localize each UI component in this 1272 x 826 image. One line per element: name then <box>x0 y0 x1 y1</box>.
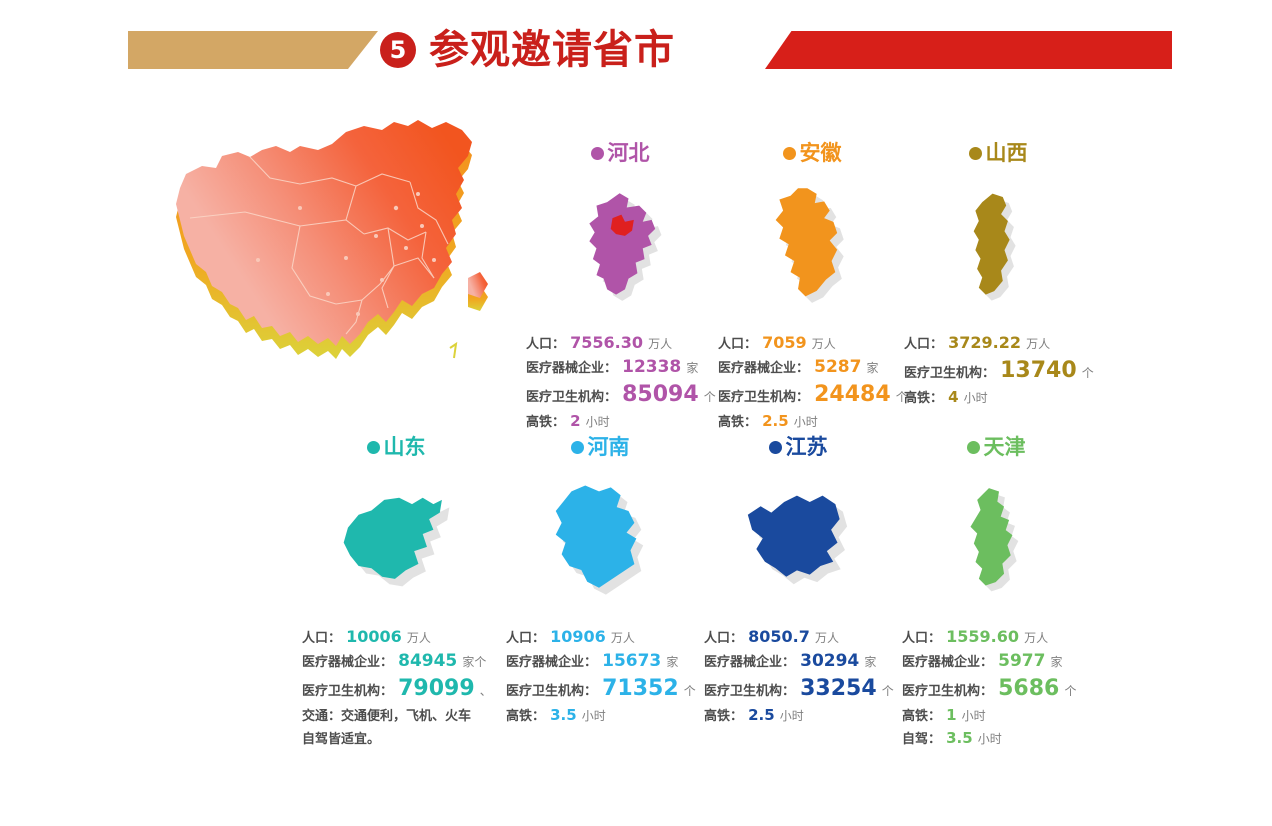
stat-unit: 、 <box>480 684 492 698</box>
stat-label: 高铁： <box>718 415 757 430</box>
stat-line: 自驾： 3.5 小时 <box>902 727 1096 750</box>
stat-line: 高铁： 3.5 小时 <box>506 704 700 727</box>
province-name-label: 天津 <box>984 437 1026 458</box>
province-shape-shandong <box>296 466 496 616</box>
stat-value: 7556.30 <box>570 333 643 352</box>
stat-label: 医疗卫生机构： <box>904 366 995 381</box>
stat-value: 79099 <box>398 676 475 701</box>
section-title-group: 5 参观邀请省市 <box>380 26 675 74</box>
province-header-tianjin: 天津 <box>896 434 1096 460</box>
stat-value: 85094 <box>622 382 699 407</box>
stat-line: 医疗器械企业： 5287 家 <box>718 355 912 379</box>
section-number-badge: 5 <box>380 32 416 68</box>
stat-value: 33254 <box>800 676 877 701</box>
stat-label: 高铁： <box>526 415 565 430</box>
header-banner: 5 参观邀请省市 <box>0 0 1272 90</box>
province-header-shandong: 山东 <box>296 434 496 460</box>
province-header-henan: 河南 <box>500 434 700 460</box>
stat-line: 医疗器械企业： 15673 家 <box>506 649 700 673</box>
province-stats-hebei: 人口： 7556.30 万人医疗器械企业： 12338 家医疗卫生机构： 850… <box>520 332 720 433</box>
stat-value: 13740 <box>1000 358 1077 383</box>
stat-label: 医疗器械企业： <box>526 361 617 376</box>
stat-label: 人口： <box>718 337 757 352</box>
red-banner-shape <box>765 31 1172 69</box>
stat-unit: 万人 <box>812 337 836 351</box>
stat-unit: 家 <box>867 361 879 375</box>
stat-unit: 个 <box>882 684 894 698</box>
legend-dot-icon <box>783 147 796 160</box>
stat-value: 3.5 <box>550 706 577 724</box>
stat-label: 医疗器械企业： <box>902 655 993 670</box>
stat-line: 人口： 7556.30 万人 <box>526 332 720 355</box>
stat-line: 人口： 8050.7 万人 <box>704 626 898 649</box>
stat-line: 人口： 1559.60 万人 <box>902 626 1096 649</box>
stat-unit: 个 <box>684 684 696 698</box>
stat-value: 2.5 <box>748 706 775 724</box>
stat-label: 医疗卫生机构： <box>718 390 809 405</box>
province-card-anhui[interactable]: 安徽人口： 7059 万人医疗器械企业： 5287 家医疗卫生机构： 24484… <box>712 140 912 433</box>
province-stats-shandong: 人口： 10006 万人医疗器械企业： 84945 家个医疗卫生机构： 7909… <box>296 626 496 750</box>
stat-unit: 小时 <box>586 415 610 429</box>
stat-value: 4 <box>948 388 958 406</box>
stat-unit: 万人 <box>815 631 839 645</box>
stat-unit: 万人 <box>611 631 635 645</box>
stat-label: 人口： <box>902 631 941 646</box>
stat-value: 10906 <box>550 627 606 646</box>
province-card-henan[interactable]: 河南人口： 10906 万人医疗器械企业： 15673 家医疗卫生机构： 713… <box>500 434 700 727</box>
stat-value: 1559.60 <box>946 627 1019 646</box>
stat-value: 71352 <box>602 676 679 701</box>
stat-label: 交通： <box>302 709 341 724</box>
legend-dot-icon <box>367 441 380 454</box>
stat-unit: 个 <box>1064 684 1076 698</box>
stat-value: 5977 <box>998 651 1045 671</box>
stat-value: 2 <box>570 412 580 430</box>
province-name-label: 河北 <box>608 143 650 164</box>
province-stats-anhui: 人口： 7059 万人医疗器械企业： 5287 家医疗卫生机构： 24484 个… <box>712 332 912 433</box>
province-shape-hebei <box>520 172 720 322</box>
stat-value: 12338 <box>622 357 681 377</box>
stat-value: 30294 <box>800 651 859 671</box>
stat-line: 医疗卫生机构： 33254 个 <box>704 673 898 704</box>
stat-unit: 家 <box>1051 655 1063 669</box>
province-stats-jiangsu: 人口： 8050.7 万人医疗器械企业： 30294 家医疗卫生机构： 3325… <box>698 626 898 727</box>
legend-dot-icon <box>967 441 980 454</box>
stat-line: 人口： 7059 万人 <box>718 332 912 355</box>
province-header-jiangsu: 江苏 <box>698 434 898 460</box>
gold-banner-shape <box>128 31 378 69</box>
legend-dot-icon <box>769 441 782 454</box>
stat-line: 高铁： 1 小时 <box>902 704 1096 727</box>
province-card-shanxi[interactable]: 山西人口： 3729.22 万人医疗卫生机构： 13740 个高铁： 4 小时 <box>898 140 1098 409</box>
stat-line: 医疗卫生机构： 79099 、 <box>302 673 496 704</box>
province-card-hebei[interactable]: 河北人口： 7556.30 万人医疗器械企业： 12338 家医疗卫生机构： 8… <box>520 140 720 433</box>
stat-label: 医疗器械企业： <box>718 361 809 376</box>
province-header-shanxi: 山西 <box>898 140 1098 166</box>
stat-line: 医疗器械企业： 12338 家 <box>526 355 720 379</box>
stat-value: 2.5 <box>762 412 789 430</box>
legend-dot-icon <box>969 147 982 160</box>
province-stats-henan: 人口： 10906 万人医疗器械企业： 15673 家医疗卫生机构： 71352… <box>500 626 700 727</box>
stat-line: 人口： 10006 万人 <box>302 626 496 649</box>
stat-label: 高铁： <box>506 709 545 724</box>
stat-label: 高铁： <box>704 709 743 724</box>
stat-label: 医疗卫生机构： <box>526 390 617 405</box>
stat-label: 医疗器械企业： <box>302 655 393 670</box>
stat-unit: 小时 <box>794 415 818 429</box>
stat-value: 5287 <box>814 357 861 377</box>
province-header-anhui: 安徽 <box>712 140 912 166</box>
stat-line: 交通：交通便利，飞机、火车 <box>302 704 496 727</box>
stat-value: 84945 <box>398 651 457 671</box>
stat-label: 人口： <box>904 337 943 352</box>
stat-unit: 家 <box>666 655 678 669</box>
stat-unit: 小时 <box>978 732 1002 746</box>
stat-line: 医疗器械企业： 84945 家个 <box>302 649 496 673</box>
stat-value: 5686 <box>998 676 1059 701</box>
stat-label: 高铁： <box>902 709 941 724</box>
stat-value: 15673 <box>602 651 661 671</box>
province-stats-shanxi: 人口： 3729.22 万人医疗卫生机构： 13740 个高铁： 4 小时 <box>898 332 1098 409</box>
province-card-shandong[interactable]: 山东人口： 10006 万人医疗器械企业： 84945 家个医疗卫生机构： 79… <box>296 434 496 750</box>
stat-label: 医疗器械企业： <box>506 655 597 670</box>
stat-unit: 个 <box>1082 366 1094 380</box>
province-name-label: 山东 <box>384 437 426 458</box>
stat-unit: 小时 <box>780 709 804 723</box>
china-map-illustration <box>150 108 520 398</box>
stat-value: 1 <box>946 706 956 724</box>
stat-value: 24484 <box>814 382 891 407</box>
stat-value: 3.5 <box>946 729 973 747</box>
stat-line: 医疗卫生机构： 5686 个 <box>902 673 1096 704</box>
stat-label: 高铁： <box>904 391 943 406</box>
stat-line: 高铁： 2 小时 <box>526 410 720 433</box>
stat-unit: 万人 <box>407 631 431 645</box>
stat-line: 高铁： 4 小时 <box>904 386 1098 409</box>
stat-line: 医疗器械企业： 30294 家 <box>704 649 898 673</box>
stat-label: 医疗卫生机构： <box>302 684 393 699</box>
stat-line: 医疗卫生机构： 85094 个 <box>526 379 720 410</box>
stat-label: 自驾： <box>902 732 941 747</box>
province-shape-jiangsu <box>698 466 898 616</box>
stat-unit: 家 <box>864 655 876 669</box>
stat-line: 自驾皆适宜。 <box>302 727 496 750</box>
stat-free-text: 自驾皆适宜。 <box>302 732 380 747</box>
page-title: 参观邀请省市 <box>429 30 675 70</box>
stat-line: 高铁： 2.5 小时 <box>718 410 912 433</box>
stat-line: 医疗卫生机构： 24484 个 <box>718 379 912 410</box>
stat-unit: 小时 <box>962 709 986 723</box>
stat-label: 医疗卫生机构： <box>902 684 993 699</box>
stat-line: 人口： 3729.22 万人 <box>904 332 1098 355</box>
stat-line: 医疗器械企业： 5977 家 <box>902 649 1096 673</box>
stat-value: 3729.22 <box>948 333 1021 352</box>
province-shape-anhui <box>712 172 912 322</box>
stat-value: 7059 <box>762 333 807 352</box>
stat-value: 8050.7 <box>748 627 810 646</box>
province-name-label: 江苏 <box>786 437 828 458</box>
province-card-jiangsu[interactable]: 江苏人口： 8050.7 万人医疗器械企业： 30294 家医疗卫生机构： 33… <box>698 434 898 727</box>
legend-dot-icon <box>591 147 604 160</box>
stat-label: 人口： <box>506 631 545 646</box>
stat-label: 医疗卫生机构： <box>704 684 795 699</box>
stat-unit: 家个 <box>462 655 486 669</box>
stat-unit: 万人 <box>648 337 672 351</box>
stat-line: 高铁： 2.5 小时 <box>704 704 898 727</box>
stat-free-text: 交通便利，飞机、火车 <box>341 709 471 724</box>
stat-line: 医疗卫生机构： 13740 个 <box>904 355 1098 386</box>
province-header-hebei: 河北 <box>520 140 720 166</box>
province-shape-shanxi <box>898 172 1098 322</box>
stat-label: 医疗器械企业： <box>704 655 795 670</box>
stat-unit: 家 <box>686 361 698 375</box>
province-name-label: 安徽 <box>800 143 842 164</box>
stat-value: 10006 <box>346 627 402 646</box>
stat-unit: 万人 <box>1024 631 1048 645</box>
province-stats-tianjin: 人口： 1559.60 万人医疗器械企业： 5977 家医疗卫生机构： 5686… <box>896 626 1096 750</box>
stat-line: 医疗卫生机构： 71352 个 <box>506 673 700 704</box>
province-name-label: 河南 <box>588 437 630 458</box>
stat-label: 人口： <box>704 631 743 646</box>
stat-label: 人口： <box>302 631 341 646</box>
stat-unit: 万人 <box>1026 337 1050 351</box>
province-name-label: 山西 <box>986 143 1028 164</box>
legend-dot-icon <box>571 441 584 454</box>
stat-line: 人口： 10906 万人 <box>506 626 700 649</box>
stat-label: 人口： <box>526 337 565 352</box>
province-shape-henan <box>500 466 700 616</box>
stat-unit: 小时 <box>964 391 988 405</box>
province-card-tianjin[interactable]: 天津人口： 1559.60 万人医疗器械企业： 5977 家医疗卫生机构： 56… <box>896 434 1096 750</box>
stat-unit: 小时 <box>582 709 606 723</box>
stat-label: 医疗卫生机构： <box>506 684 597 699</box>
province-shape-tianjin <box>896 466 1096 616</box>
